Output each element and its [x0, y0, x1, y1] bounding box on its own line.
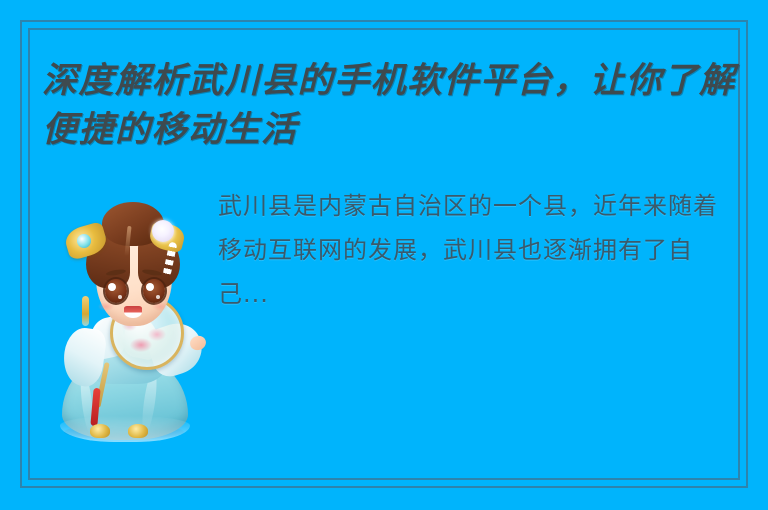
shoe-left-shape — [90, 424, 110, 438]
shoe-right-shape — [128, 424, 148, 438]
blush-left-shape — [98, 302, 114, 311]
mouth-shape — [124, 306, 142, 318]
eye-highlight-shape — [108, 283, 116, 291]
article-excerpt: 武川县是内蒙古自治区的一个县，近年来随着移动互联网的发展，武川县也逐渐拥有了自己… — [218, 184, 740, 316]
earring-icon — [82, 296, 89, 326]
article-title: 深度解析武川县的手机软件平台，让你了解便捷的移动生活 — [42, 56, 742, 154]
eye-left-shape — [105, 279, 127, 303]
eye-highlight-shape — [156, 295, 160, 299]
eye-highlight-shape — [118, 295, 122, 299]
skirt-hem-shape — [60, 416, 190, 442]
fan-blossom-shape — [148, 328, 166, 341]
chibi-hanfu-girl-illustration — [38, 186, 218, 456]
fan-blossom-shape — [130, 338, 152, 352]
flower-hairpin-icon — [152, 220, 174, 242]
article-banner: 深度解析武川县的手机软件平台，让你了解便捷的移动生活 武川县是内蒙古自治区的一个… — [0, 0, 768, 510]
jewel-hairpin-icon — [77, 234, 91, 248]
eye-right-shape — [143, 279, 165, 303]
blush-right-shape — [152, 302, 168, 311]
eye-highlight-shape — [146, 283, 154, 291]
